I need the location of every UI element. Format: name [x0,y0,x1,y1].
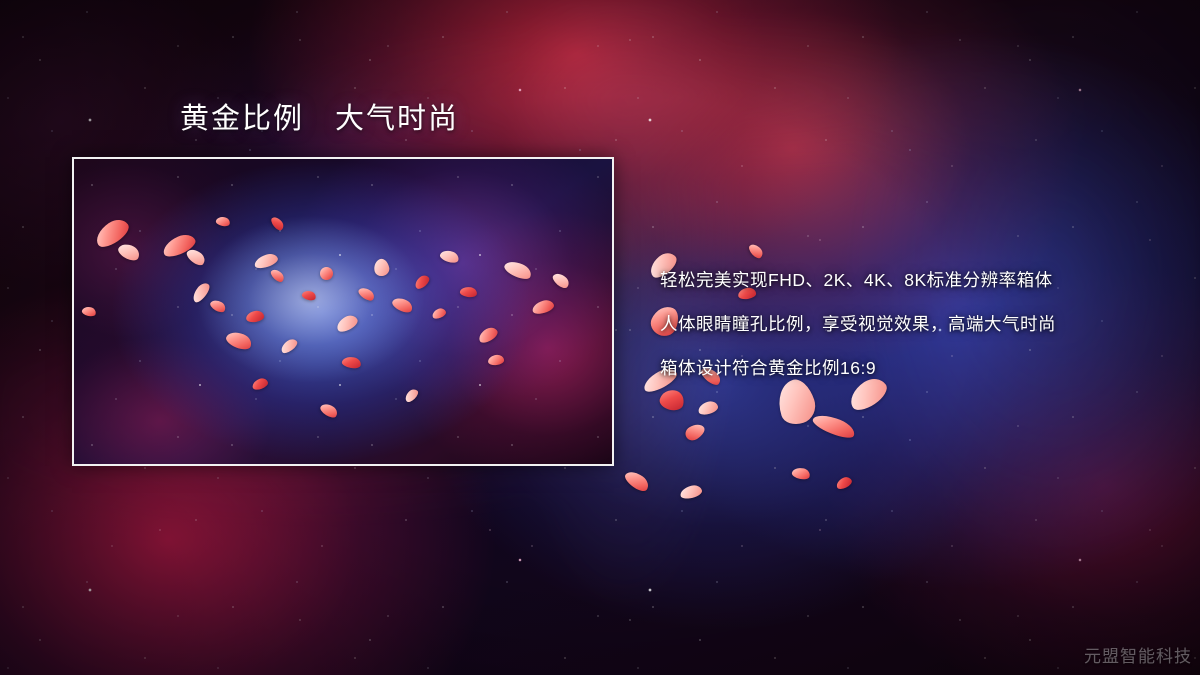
watermark-label: 元盟智能科技 [1084,642,1192,667]
slide-title: 黄金比例 大气时尚 [180,102,459,137]
petal [835,475,854,491]
body-text-line: 箱体设计符合黄金比例16:9 [660,346,1180,390]
body-text-line: 人体眼睛瞳孔比例，享受视觉效果，高端大气时尚 [660,302,1180,346]
presentation-slide: 黄金比例 大气时尚 [0,0,1200,675]
body-text-line: 轻松完美实现FHD、2K、4K、8K标准分辨率箱体 [660,258,1180,302]
petal [811,410,858,441]
petal [658,387,686,412]
framed-photo-content [74,159,612,464]
framed-photo [72,157,614,466]
petal [679,484,703,501]
petal [683,421,707,443]
body-text-block: 轻松完美实现FHD、2K、4K、8K标准分辨率箱体 人体眼睛瞳孔比例，享受视觉效… [660,258,1180,390]
petal [622,468,651,495]
photo-starfield-layer [74,159,612,464]
petal [791,466,811,481]
petal [697,399,720,416]
